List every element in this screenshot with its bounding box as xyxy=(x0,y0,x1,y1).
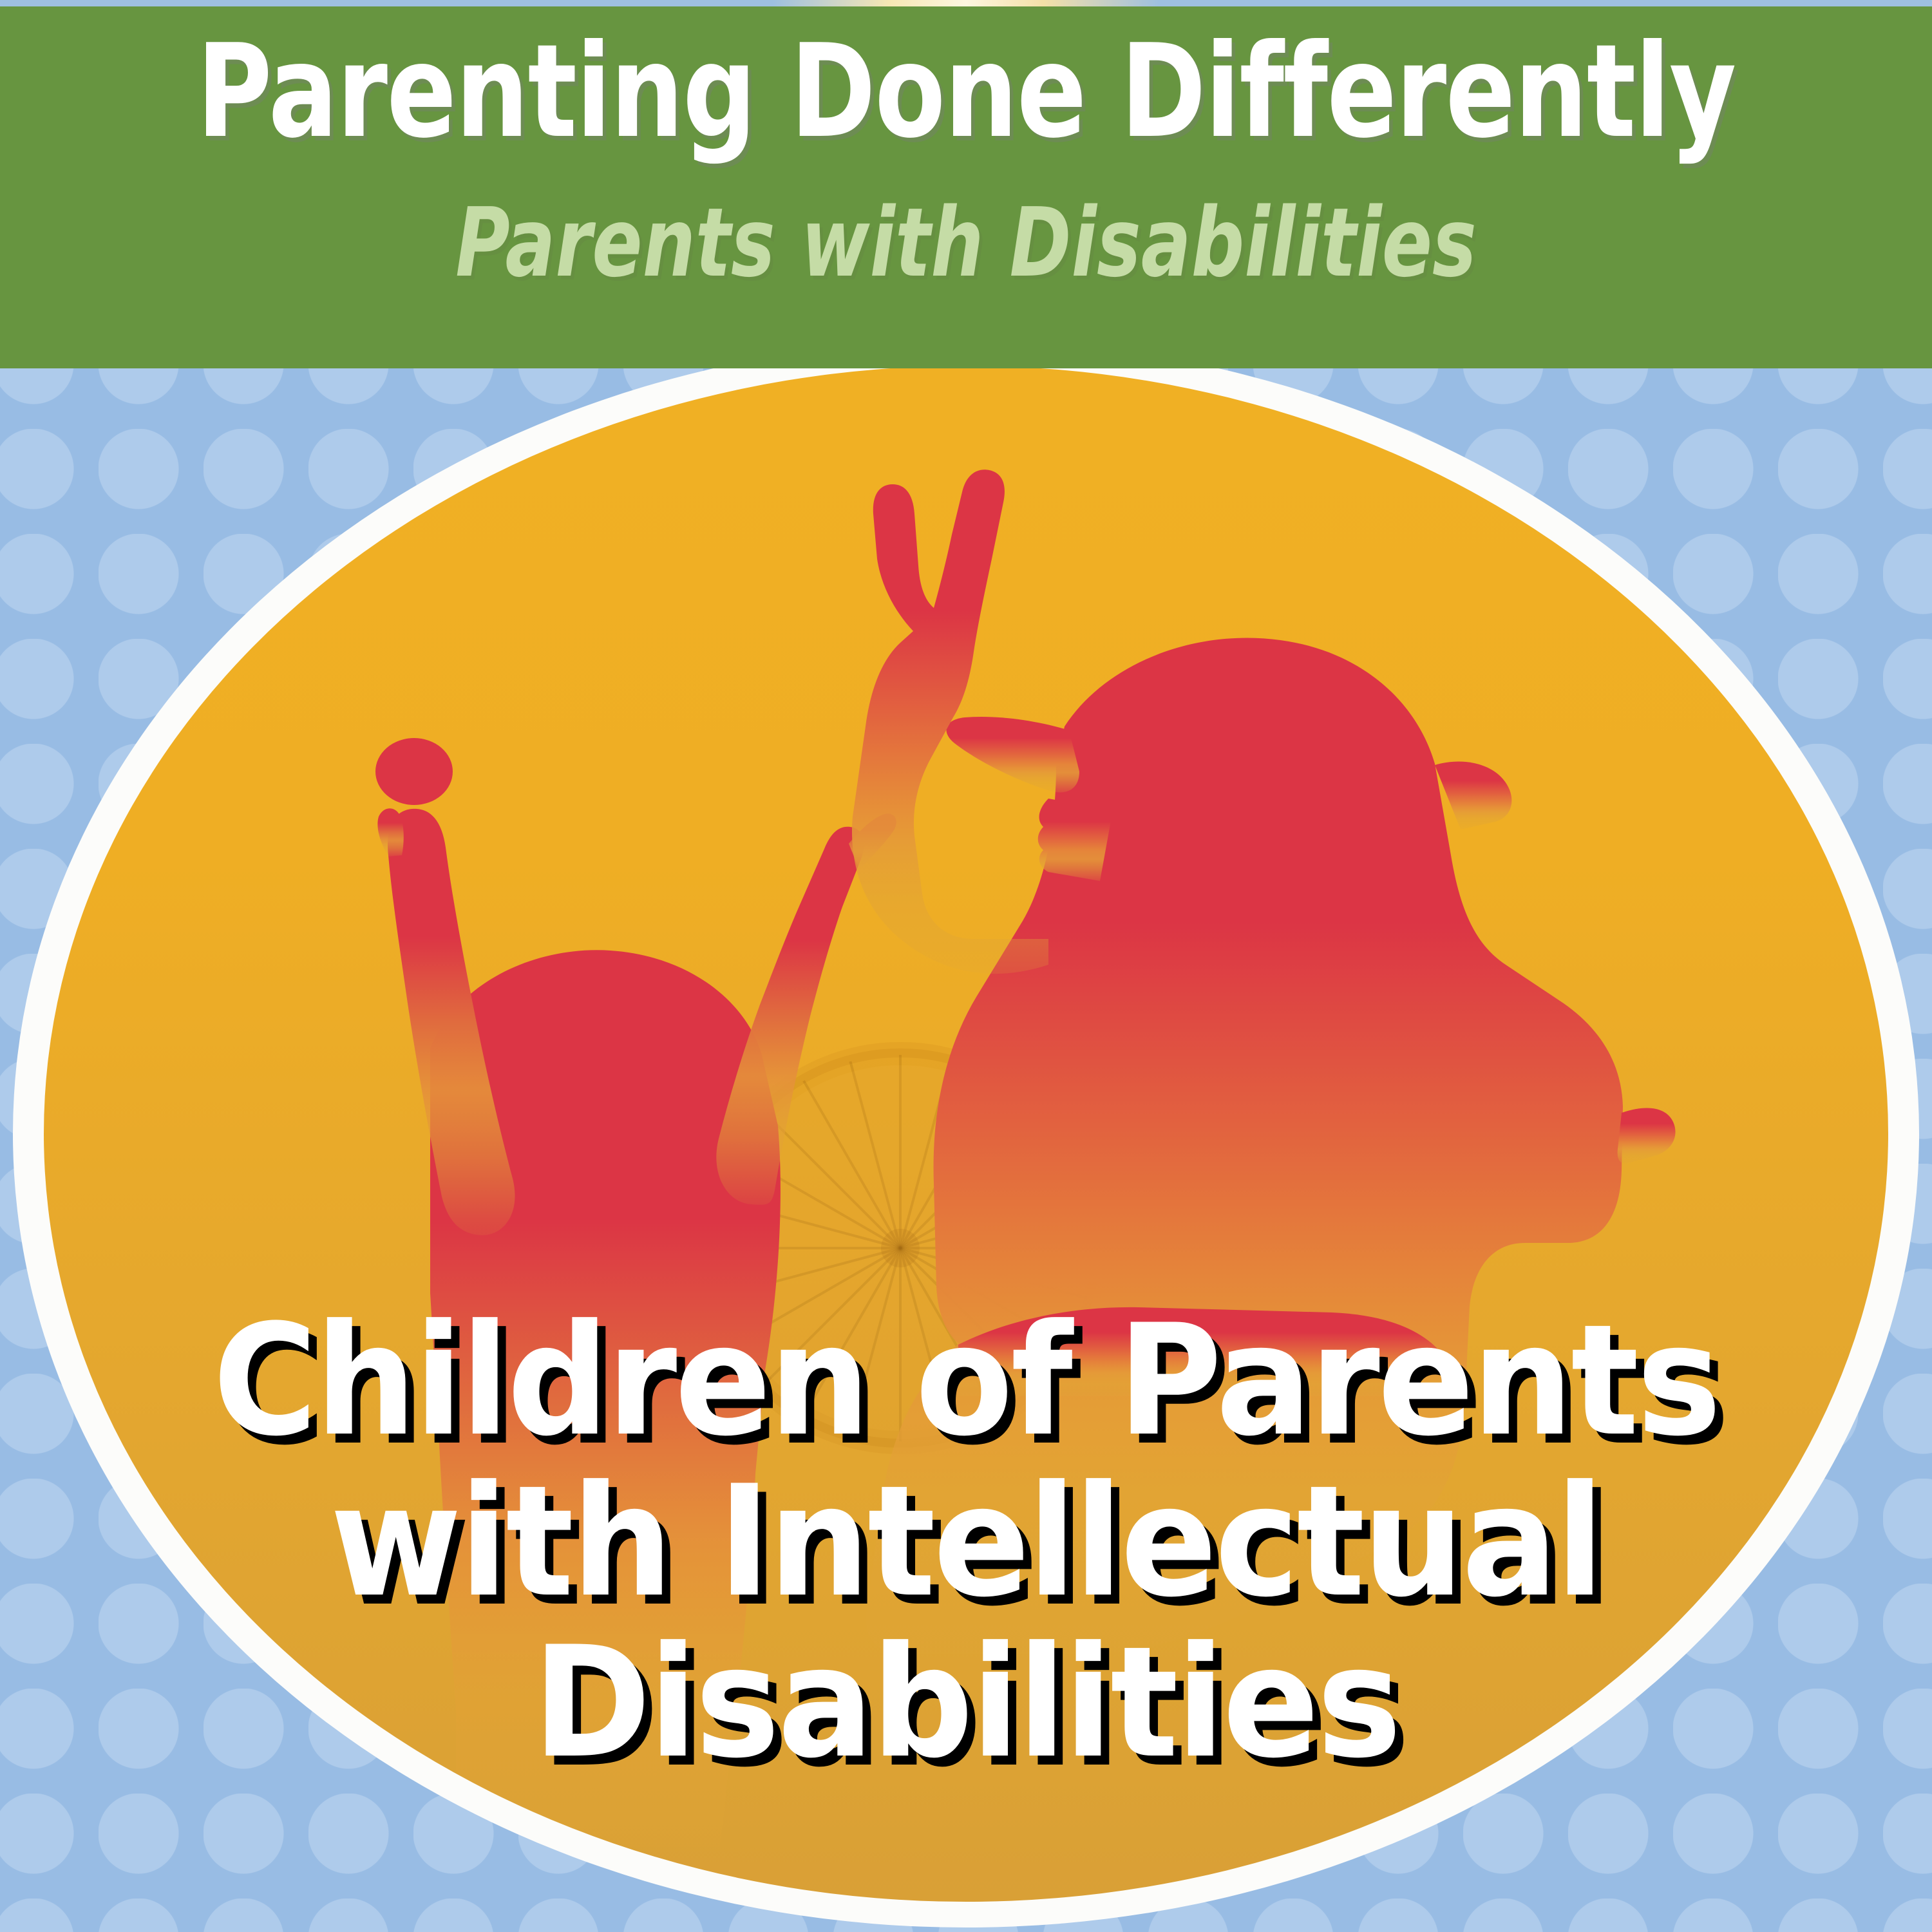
headline-line-1: Children of Parents xyxy=(68,1301,1864,1462)
headline-line-2: with Intellectual xyxy=(68,1462,1864,1623)
header-band: Parenting Done Differently Parents with … xyxy=(0,0,1932,368)
headline-line-3: Disabilities xyxy=(68,1623,1864,1784)
page-subtitle: Parents with Disabilities xyxy=(213,187,1719,299)
episode-headline: Children of Parents with Intellectual Di… xyxy=(0,1301,1932,1784)
header-sheen-strip xyxy=(0,0,1932,6)
podcast-cover-art: Parenting Done Differently Parents with … xyxy=(0,0,1932,1932)
page-title: Parenting Done Differently xyxy=(193,18,1739,166)
